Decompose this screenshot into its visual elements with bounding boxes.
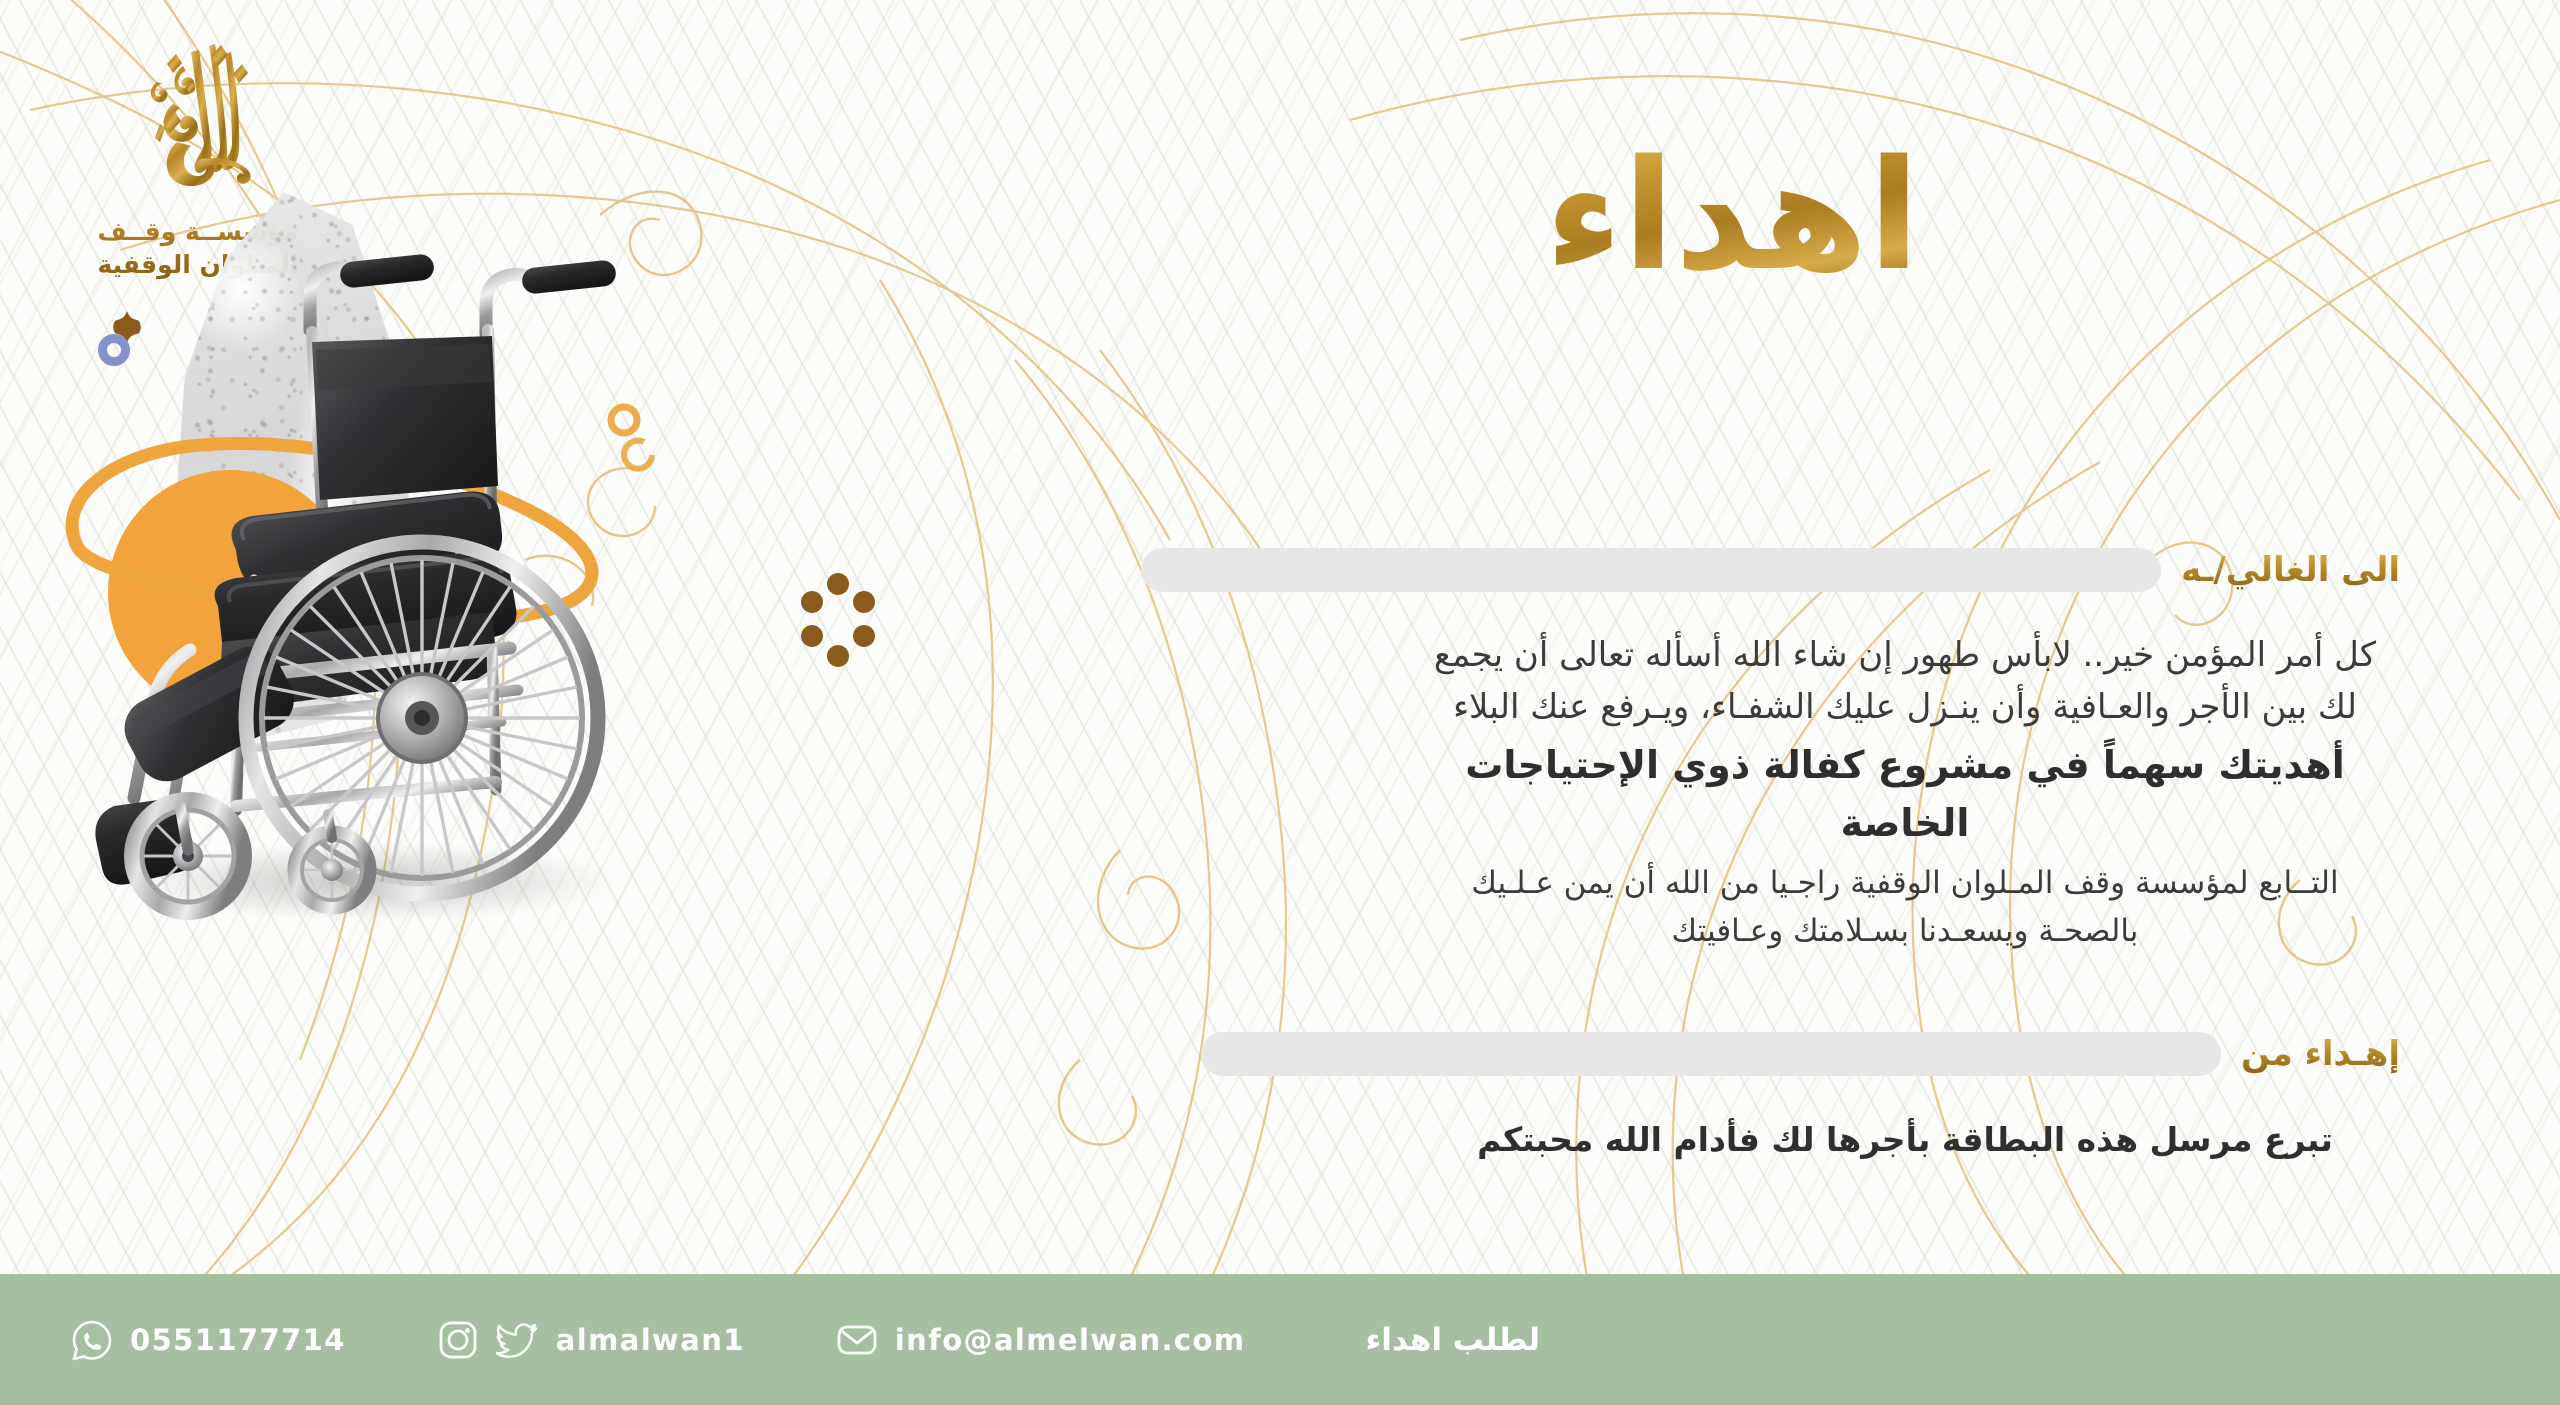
message-body: كل أمر المؤمن خير.. لابأس طهور إن شاء ال… <box>1400 630 2410 955</box>
donor-input[interactable] <box>1201 1032 2221 1076</box>
message-emphasis: أهديتك سهماً في مشروع كفالة ذوي الإحتياج… <box>1400 737 2410 853</box>
dedication-card: مؤسســة وقــف المـلوان الوقفية <box>0 0 2560 1405</box>
closing-note: تبرع مرسل هذه البطاقة بأجرها لك فأدام ال… <box>1400 1120 2410 1159</box>
twitter-icon <box>496 1318 540 1362</box>
donor-field-row: إهـداء من <box>1201 1032 2400 1076</box>
whatsapp-icon <box>70 1318 114 1362</box>
recipient-field-row: الى الغالي/ـه <box>1141 548 2400 592</box>
recipient-label: الى الغالي/ـه <box>2181 550 2400 590</box>
contact-social[interactable]: almalwan1 <box>436 1318 745 1362</box>
message-line-2: لك بين الأجر والعـافية وأن ينـزل عليك ال… <box>1400 682 2410 734</box>
message-line-3: التــابع لمؤسسة وقف المـلوان الوقفية راج… <box>1400 859 2410 907</box>
order-dedication-cta[interactable]: لطلب اهداء <box>1365 1322 1540 1358</box>
dot-cluster-accent <box>790 560 940 710</box>
contact-email[interactable]: info@almelwan.com <box>835 1318 1246 1362</box>
card-content: اهداء الى الغالي/ـه كل أمر المؤمن خير.. … <box>920 0 2560 1270</box>
social-handle: almalwan1 <box>556 1323 745 1357</box>
wheelchair-illustration <box>40 250 660 930</box>
email-icon <box>835 1318 879 1362</box>
illustration-stage <box>0 170 700 1270</box>
message-line-1: كل أمر المؤمن خير.. لابأس طهور إن شاء ال… <box>1400 630 2410 682</box>
donor-label: إهـداء من <box>2241 1034 2400 1074</box>
recipient-input[interactable] <box>1141 548 2161 592</box>
message-line-4: بالصحـة ويسعـدنا بسـلامتك وعـافيتك <box>1400 907 2410 955</box>
contact-whatsapp[interactable]: 0551177714 <box>70 1318 346 1362</box>
instagram-icon <box>436 1318 480 1362</box>
page-title: اهداء <box>1545 140 1920 292</box>
contact-footer: 0551177714 almalwan1 <box>0 1274 2560 1405</box>
whatsapp-number: 0551177714 <box>130 1323 346 1357</box>
email-address: info@almelwan.com <box>895 1323 1246 1357</box>
